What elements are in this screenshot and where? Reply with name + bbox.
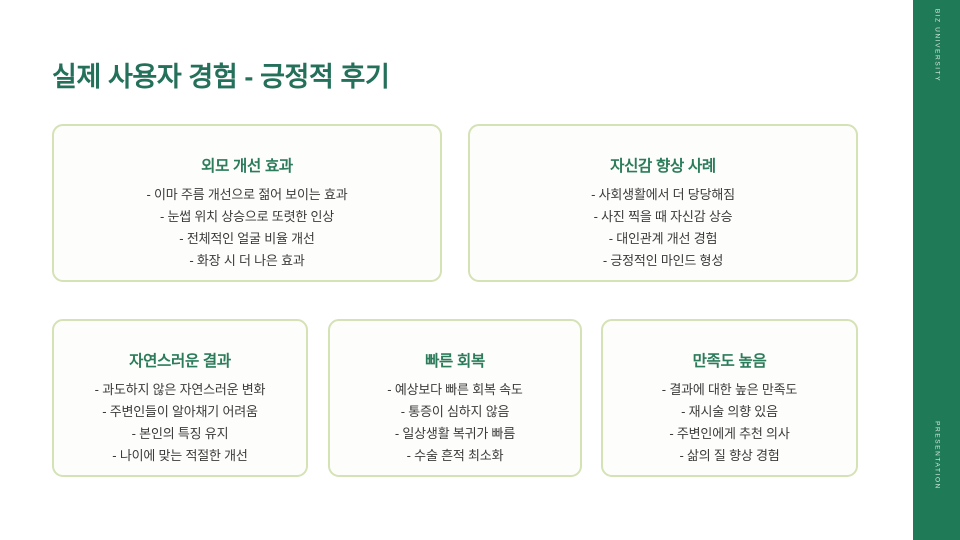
card-appearance-improvement: 외모 개선 효과 - 이마 주름 개선으로 젊어 보이는 효과 - 눈썹 위치 … bbox=[52, 124, 442, 282]
slide-canvas: 실제 사용자 경험 - 긍정적 후기 외모 개선 효과 - 이마 주름 개선으로… bbox=[0, 0, 960, 540]
sidebar-brand-label: BIZ UNIVERSITY bbox=[933, 9, 940, 82]
card-item: - 주변인에게 추천 의사 bbox=[669, 424, 789, 444]
card-item: - 화장 시 더 나은 효과 bbox=[189, 251, 304, 271]
card-high-satisfaction: 만족도 높음 - 결과에 대한 높은 만족도 - 재시술 의향 있음 - 주변인… bbox=[601, 319, 858, 477]
card-title: 자연스러운 결과 bbox=[129, 349, 231, 371]
card-item: - 나이에 맞는 적절한 개선 bbox=[112, 446, 247, 466]
card-natural-result: 자연스러운 결과 - 과도하지 않은 자연스러운 변화 - 주변인들이 알아채기… bbox=[52, 319, 308, 477]
card-item: - 눈썹 위치 상승으로 또렷한 인상 bbox=[160, 207, 334, 227]
card-title: 외모 개선 효과 bbox=[201, 154, 293, 176]
card-item: - 대인관계 개선 경험 bbox=[609, 229, 717, 249]
card-confidence-improvement: 자신감 향상 사례 - 사회생활에서 더 당당해짐 - 사진 찍을 때 자신감 … bbox=[468, 124, 858, 282]
card-item: - 일상생활 복귀가 빠름 bbox=[395, 424, 515, 444]
card-fast-recovery: 빠른 회복 - 예상보다 빠른 회복 속도 - 통증이 심하지 않음 - 일상생… bbox=[328, 319, 582, 477]
card-item: - 수술 흔적 최소화 bbox=[407, 446, 504, 466]
card-item: - 통증이 심하지 않음 bbox=[401, 402, 509, 422]
card-item-list: - 사회생활에서 더 당당해짐 - 사진 찍을 때 자신감 상승 - 대인관계 … bbox=[591, 185, 735, 272]
card-title: 빠른 회복 bbox=[425, 349, 485, 371]
card-item-list: - 결과에 대한 높은 만족도 - 재시술 의향 있음 - 주변인에게 추천 의… bbox=[662, 380, 797, 467]
card-item: - 예상보다 빠른 회복 속도 bbox=[387, 380, 522, 400]
card-item: - 본인의 특징 유지 bbox=[132, 424, 229, 444]
card-item-list: - 이마 주름 개선으로 젊어 보이는 효과 - 눈썹 위치 상승으로 또렷한 … bbox=[146, 185, 347, 272]
sidebar-presentation-label: PRESENTATION bbox=[933, 421, 940, 490]
card-item: - 사회생활에서 더 당당해짐 bbox=[591, 185, 735, 205]
card-item: - 삶의 질 향상 경험 bbox=[679, 446, 779, 466]
page-title: 실제 사용자 경험 - 긍정적 후기 bbox=[52, 55, 389, 94]
card-item-list: - 과도하지 않은 자연스러운 변화 - 주변인들이 알아채기 어려움 - 본인… bbox=[95, 380, 266, 467]
card-title: 자신감 향상 사례 bbox=[610, 154, 716, 176]
card-title: 만족도 높음 bbox=[693, 349, 767, 371]
card-item: - 주변인들이 알아채기 어려움 bbox=[102, 402, 258, 422]
brand-sidebar: BIZ UNIVERSITY PRESENTATION bbox=[913, 0, 960, 540]
card-item-list: - 예상보다 빠른 회복 속도 - 통증이 심하지 않음 - 일상생활 복귀가 … bbox=[387, 380, 522, 467]
card-item: - 결과에 대한 높은 만족도 bbox=[662, 380, 797, 400]
card-item: - 과도하지 않은 자연스러운 변화 bbox=[95, 380, 266, 400]
card-item: - 사진 찍을 때 자신감 상승 bbox=[594, 207, 733, 227]
card-item: - 긍정적인 마인드 형성 bbox=[603, 251, 723, 271]
card-item: - 전체적인 얼굴 비율 개선 bbox=[179, 229, 314, 249]
card-item: - 이마 주름 개선으로 젊어 보이는 효과 bbox=[146, 185, 347, 205]
card-item: - 재시술 의향 있음 bbox=[681, 402, 778, 422]
